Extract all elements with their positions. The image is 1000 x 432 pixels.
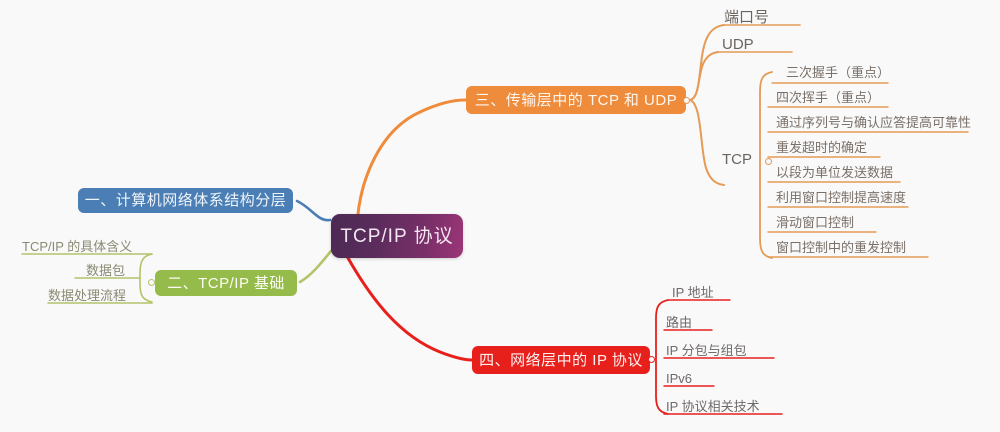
- connector-red: [348, 258, 472, 360]
- leaf-tcp-7[interactable]: 窗口控制中的重发控制: [776, 241, 906, 254]
- leaf-ip-3[interactable]: IPv6: [666, 372, 692, 385]
- leaf-green-1[interactable]: 数据包: [86, 264, 125, 277]
- branch-node-blue[interactable]: 一、计算机网络体系结构分层: [78, 188, 293, 213]
- leaf-ip-1[interactable]: 路由: [666, 316, 692, 329]
- leaf-tcp-3[interactable]: 重发超时的确定: [776, 141, 867, 154]
- bracket-green: [140, 254, 152, 302]
- mindmap-canvas: TCP/IP 协议 一、计算机网络体系结构分层 二、TCP/IP 基础 TCP/…: [0, 0, 1000, 432]
- branch-node-red[interactable]: 四、网络层中的 IP 协议: [472, 346, 650, 374]
- branch-node-green[interactable]: 二、TCP/IP 基础: [155, 270, 297, 296]
- branch-node-orange-label: 三、传输层中的 TCP 和 UDP: [475, 93, 677, 108]
- leaf-tcp-2[interactable]: 通过序列号与确认应答提高可靠性: [776, 116, 971, 129]
- leaf-orange-tcp[interactable]: TCP: [722, 152, 752, 167]
- connector-blue: [297, 201, 330, 220]
- central-node[interactable]: TCP/IP 协议: [331, 214, 463, 258]
- leaf-orange-udp[interactable]: UDP: [722, 37, 754, 52]
- leaf-ip-2[interactable]: IP 分包与组包: [666, 344, 747, 357]
- leaf-tcp-4[interactable]: 以段为单位发送数据: [776, 166, 893, 179]
- leaf-tcp-6[interactable]: 滑动窗口控制: [776, 216, 854, 229]
- branch-dot-green[interactable]: [148, 279, 155, 286]
- connector-orange-udp: [690, 52, 718, 100]
- branch-node-orange[interactable]: 三、传输层中的 TCP 和 UDP: [466, 86, 686, 114]
- branch-dot-tcp[interactable]: [765, 158, 772, 165]
- leaf-ip-0[interactable]: IP 地址: [672, 286, 714, 299]
- leaf-tcp-0[interactable]: 三次握手（重点）: [786, 66, 890, 79]
- branch-dot-red[interactable]: [648, 356, 655, 363]
- leaf-green-0[interactable]: TCP/IP 的具体含义: [22, 240, 132, 253]
- connector-orange-port: [690, 25, 724, 100]
- branch-node-blue-label: 一、计算机网络体系结构分层: [85, 193, 287, 208]
- leaf-ip-4[interactable]: IP 协议相关技术: [666, 400, 760, 413]
- connector-green: [300, 251, 331, 282]
- leaf-green-2[interactable]: 数据处理流程: [48, 289, 126, 302]
- connector-orange: [358, 100, 466, 214]
- leaf-tcp-1[interactable]: 四次挥手（重点）: [776, 91, 880, 104]
- branch-node-green-label: 二、TCP/IP 基础: [167, 276, 285, 291]
- central-node-label: TCP/IP 协议: [340, 227, 453, 246]
- connector-orange-tcp: [690, 100, 724, 185]
- branch-node-red-label: 四、网络层中的 IP 协议: [479, 353, 643, 368]
- branch-dot-orange[interactable]: [683, 97, 690, 104]
- leaf-tcp-5[interactable]: 利用窗口控制提高速度: [776, 191, 906, 204]
- leaf-orange-port[interactable]: 端口号: [724, 10, 769, 25]
- bracket-tcp: [760, 72, 772, 258]
